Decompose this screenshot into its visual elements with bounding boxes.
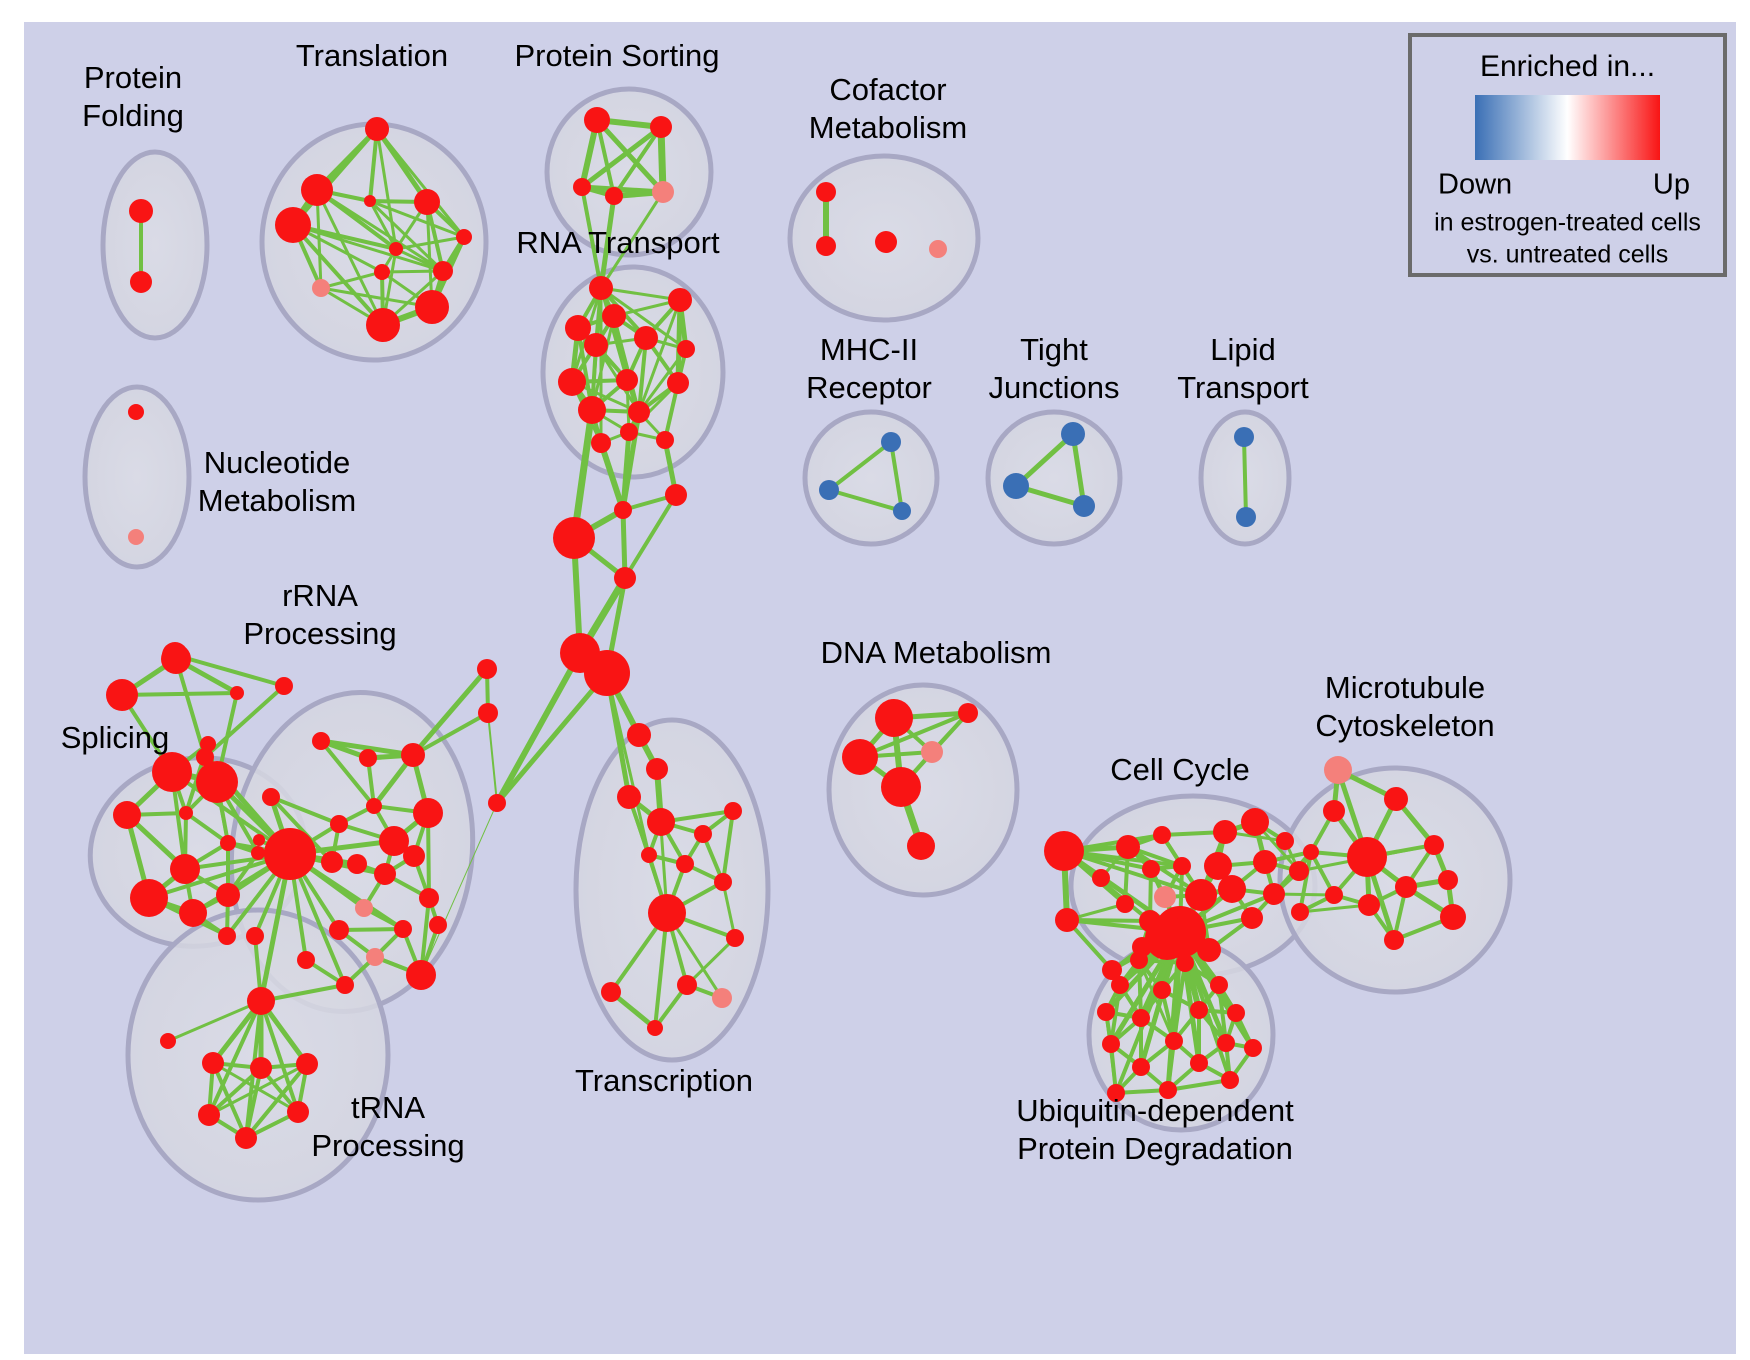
- legend-low-label: Down: [1438, 169, 1512, 201]
- network-node-rrna-processing[interactable]: [275, 677, 293, 695]
- network-node-rna-transport[interactable]: [656, 431, 674, 449]
- network-node-trna-processing[interactable]: [235, 1127, 257, 1149]
- network-node-cell-cycle[interactable]: [1092, 869, 1110, 887]
- network-node-ubiquitin-protein-degradation[interactable]: [1132, 1009, 1150, 1027]
- network-node-transcription[interactable]: [647, 1020, 663, 1036]
- network-node-protein-sorting[interactable]: [584, 107, 610, 133]
- network-node-microtubule-cytoskeleton[interactable]: [1438, 870, 1458, 890]
- network-node-protein-sorting[interactable]: [652, 181, 674, 203]
- network-node-trna-processing[interactable]: [250, 1057, 272, 1079]
- network-node-cell-cycle[interactable]: [1142, 860, 1160, 878]
- network-node-splicing[interactable]: [253, 834, 265, 846]
- network-node-cofactor-metabolism[interactable]: [816, 236, 836, 256]
- network-node-rna-transport[interactable]: [628, 401, 650, 423]
- network-node-splicing[interactable]: [216, 883, 240, 907]
- network-node-ubiquitin-protein-degradation[interactable]: [1221, 1071, 1239, 1089]
- network-node-ubiquitin-protein-degradation[interactable]: [1165, 1032, 1183, 1050]
- network-node-transcription[interactable]: [712, 988, 732, 1008]
- network-node-ubiquitin-protein-degradation[interactable]: [1190, 1001, 1208, 1019]
- network-node-rrna-processing[interactable]: [401, 743, 425, 767]
- network-node-rrna-processing[interactable]: [336, 976, 354, 994]
- network-node-rna-transport[interactable]: [677, 340, 695, 358]
- network-node-protein-folding[interactable]: [129, 199, 153, 223]
- network-node-cofactor-metabolism[interactable]: [875, 231, 897, 253]
- network-node-microtubule-cytoskeleton[interactable]: [1324, 756, 1352, 784]
- network-node-splicing[interactable]: [179, 899, 207, 927]
- network-node-ubiquitin-protein-degradation[interactable]: [1190, 1054, 1208, 1072]
- legend-high-label: Up: [1653, 169, 1690, 201]
- network-node-dna-metabolism[interactable]: [958, 703, 978, 723]
- network-node-cell-cycle[interactable]: [1116, 835, 1140, 859]
- network-node-nucleotide-metabolism[interactable]: [128, 404, 144, 420]
- network-node-transcription[interactable]: [646, 758, 668, 780]
- network-node-rna-transport[interactable]: [620, 423, 638, 441]
- network-node-transcription[interactable]: [584, 650, 630, 696]
- network-node-transcription[interactable]: [627, 723, 651, 747]
- cluster-hull-protein-folding[interactable]: [103, 152, 207, 338]
- network-node-translation[interactable]: [389, 242, 403, 256]
- network-node-ubiquitin-protein-degradation[interactable]: [1176, 954, 1194, 972]
- network-node-microtubule-cytoskeleton[interactable]: [1325, 886, 1343, 904]
- network-node-rrna-processing[interactable]: [477, 659, 497, 679]
- network-node-cell-cycle[interactable]: [1055, 908, 1079, 932]
- network-node-rrna-processing[interactable]: [329, 920, 349, 940]
- network-node-splicing[interactable]: [196, 761, 238, 803]
- cluster-label-translation: Translation: [296, 38, 448, 73]
- network-node-rrna-processing[interactable]: [394, 920, 412, 938]
- network-node-transcription[interactable]: [648, 894, 686, 932]
- cluster-label-splicing: Splicing: [61, 720, 170, 755]
- network-node-cell-cycle[interactable]: [1145, 916, 1189, 960]
- network-node-mhc-ii-receptor[interactable]: [819, 480, 839, 500]
- network-node-rrna-processing[interactable]: [321, 851, 343, 873]
- network-node-rrna-processing[interactable]: [264, 828, 316, 880]
- legend-color-bar: [1475, 95, 1660, 160]
- network-node-rrna-processing[interactable]: [347, 854, 367, 874]
- network-node-tight-junctions[interactable]: [1003, 473, 1029, 499]
- network-node-rna-transport[interactable]: [558, 368, 586, 396]
- network-node-transcription[interactable]: [488, 794, 506, 812]
- network-node-translation[interactable]: [415, 290, 449, 324]
- network-node-protein-folding[interactable]: [130, 271, 152, 293]
- cluster-label-dna-metabolism: DNA Metabolism: [821, 635, 1052, 670]
- network-node-rrna-processing[interactable]: [406, 960, 436, 990]
- legend-subtitle-line2: vs. untreated cells: [1467, 241, 1669, 269]
- legend-panel: Enriched in... Down Up in estrogen-treat…: [1410, 35, 1725, 275]
- network-node-tight-junctions[interactable]: [1061, 422, 1085, 446]
- cluster-label-transcription: Transcription: [575, 1063, 753, 1098]
- network-node-trna-processing[interactable]: [202, 1052, 224, 1074]
- network-node-rrna-processing[interactable]: [478, 703, 498, 723]
- network-node-splicing[interactable]: [179, 806, 193, 820]
- network-node-transcription[interactable]: [694, 825, 712, 843]
- network-node-ubiquitin-protein-degradation[interactable]: [1210, 976, 1228, 994]
- network-node-cell-cycle[interactable]: [1153, 826, 1171, 844]
- network-node-cell-cycle[interactable]: [1263, 883, 1285, 905]
- network-node-rna-transport[interactable]: [589, 276, 613, 300]
- network-node-rrna-processing[interactable]: [413, 798, 443, 828]
- network-node-cell-cycle[interactable]: [1218, 875, 1246, 903]
- network-node-rrna-processing[interactable]: [162, 642, 188, 668]
- network-node-cell-cycle[interactable]: [1185, 879, 1217, 911]
- network-node-translation[interactable]: [433, 261, 453, 281]
- network-node-rrna-processing[interactable]: [330, 815, 348, 833]
- network-node-trna-processing[interactable]: [160, 1033, 176, 1049]
- network-node-dna-metabolism[interactable]: [907, 832, 935, 860]
- network-node-translation[interactable]: [414, 189, 440, 215]
- network-node-rrna-processing[interactable]: [359, 749, 377, 767]
- network-node-cell-cycle[interactable]: [1173, 857, 1191, 875]
- network-node-cell-cycle[interactable]: [1241, 808, 1269, 836]
- network-node-transcription[interactable]: [714, 873, 732, 891]
- network-node-microtubule-cytoskeleton[interactable]: [1395, 876, 1417, 898]
- network-node-rrna-processing[interactable]: [196, 748, 214, 766]
- network-node-rrna-processing[interactable]: [355, 899, 373, 917]
- network-node-rna-transport[interactable]: [634, 326, 658, 350]
- network-node-splicing[interactable]: [106, 679, 138, 711]
- network-node-translation[interactable]: [364, 195, 376, 207]
- network-node-microtubule-cytoskeleton[interactable]: [1347, 837, 1387, 877]
- network-node-cell-cycle[interactable]: [1253, 850, 1277, 874]
- network-node-microtubule-cytoskeleton[interactable]: [1291, 903, 1309, 921]
- network-node-translation[interactable]: [365, 117, 389, 141]
- network-node-cell-cycle[interactable]: [1154, 886, 1176, 908]
- network-node-dna-metabolism[interactable]: [842, 739, 878, 775]
- network-node-transcription[interactable]: [677, 975, 697, 995]
- network-node-splicing[interactable]: [251, 846, 265, 860]
- network-node-microtubule-cytoskeleton[interactable]: [1384, 787, 1408, 811]
- network-node-microtubule-cytoskeleton[interactable]: [1424, 835, 1444, 855]
- network-node-dna-metabolism[interactable]: [881, 767, 921, 807]
- network-node-cofactor-metabolism[interactable]: [816, 182, 836, 202]
- network-node-transcription[interactable]: [676, 855, 694, 873]
- network-node-microtubule-cytoskeleton[interactable]: [1358, 894, 1380, 916]
- network-node-splicing[interactable]: [170, 854, 200, 884]
- network-node-rna-transport[interactable]: [616, 369, 638, 391]
- network-node-splicing[interactable]: [152, 752, 192, 792]
- network-node-lipid-transport[interactable]: [1236, 507, 1256, 527]
- network-node-translation[interactable]: [456, 229, 472, 245]
- network-node-splicing[interactable]: [218, 927, 236, 945]
- network-node-splicing[interactable]: [230, 686, 244, 700]
- network-node-transcription[interactable]: [647, 808, 675, 836]
- network-node-protein-sorting[interactable]: [573, 178, 591, 196]
- network-node-microtubule-cytoskeleton[interactable]: [1323, 800, 1345, 822]
- network-node-trna-processing[interactable]: [287, 1101, 309, 1123]
- network-node-protein-sorting[interactable]: [650, 116, 672, 138]
- network-node-transcription[interactable]: [553, 517, 595, 559]
- network-node-translation[interactable]: [301, 174, 333, 206]
- network-node-ubiquitin-protein-degradation[interactable]: [1244, 1039, 1262, 1057]
- network-node-mhc-ii-receptor[interactable]: [893, 502, 911, 520]
- network-node-ubiquitin-protein-degradation[interactable]: [1153, 981, 1171, 999]
- network-node-microtubule-cytoskeleton[interactable]: [1303, 844, 1319, 860]
- network-node-transcription[interactable]: [614, 567, 636, 589]
- network-node-cell-cycle[interactable]: [1289, 861, 1309, 881]
- legend-subtitle-line1: in estrogen-treated cells: [1434, 209, 1701, 237]
- network-node-rrna-processing[interactable]: [419, 888, 439, 908]
- network-node-transcription[interactable]: [724, 802, 742, 820]
- network-node-rna-transport[interactable]: [584, 333, 608, 357]
- network-node-ubiquitin-protein-degradation[interactable]: [1130, 951, 1148, 969]
- network-node-microtubule-cytoskeleton[interactable]: [1384, 930, 1404, 950]
- network-node-rrna-processing[interactable]: [374, 863, 396, 885]
- network-node-translation[interactable]: [374, 264, 390, 280]
- cluster-label-cell-cycle: Cell Cycle: [1110, 752, 1250, 787]
- network-node-cell-cycle[interactable]: [1116, 895, 1134, 913]
- cluster-label-rna-transport: RNA Transport: [516, 225, 720, 260]
- network-node-translation[interactable]: [312, 279, 330, 297]
- network-node-transcription[interactable]: [665, 484, 687, 506]
- network-node-cell-cycle[interactable]: [1197, 938, 1221, 962]
- network-canvas: ProteinFoldingTranslationProtein Sorting…: [0, 0, 1750, 1360]
- cluster-hull-transcription[interactable]: [576, 720, 768, 1060]
- network-node-tight-junctions[interactable]: [1073, 495, 1095, 517]
- network-node-dna-metabolism[interactable]: [921, 741, 943, 763]
- network-node-cofactor-metabolism[interactable]: [929, 240, 947, 258]
- network-node-cell-cycle[interactable]: [1213, 820, 1237, 844]
- network-node-rrna-processing[interactable]: [246, 927, 264, 945]
- network-node-microtubule-cytoskeleton[interactable]: [1440, 904, 1466, 930]
- network-node-mhc-ii-receptor[interactable]: [881, 432, 901, 452]
- network-node-protein-sorting[interactable]: [605, 187, 623, 205]
- legend-title: Enriched in...: [1480, 50, 1655, 83]
- network-node-ubiquitin-protein-degradation[interactable]: [1132, 1058, 1150, 1076]
- network-node-rrna-processing[interactable]: [247, 987, 275, 1015]
- network-node-rrna-processing[interactable]: [429, 916, 447, 934]
- network-node-rrna-processing[interactable]: [366, 948, 384, 966]
- network-node-rrna-processing[interactable]: [366, 798, 382, 814]
- network-node-rna-transport[interactable]: [591, 433, 611, 453]
- network-edge: [1244, 437, 1246, 517]
- network-node-ubiquitin-protein-degradation[interactable]: [1102, 1035, 1120, 1053]
- network-node-splicing[interactable]: [130, 879, 168, 917]
- network-node-trna-processing[interactable]: [296, 1053, 318, 1075]
- network-node-cell-cycle[interactable]: [1044, 831, 1084, 871]
- network-node-rna-transport[interactable]: [668, 288, 692, 312]
- network-node-transcription[interactable]: [614, 501, 632, 519]
- network-node-rna-transport[interactable]: [602, 304, 626, 328]
- network-node-ubiquitin-protein-degradation[interactable]: [1111, 976, 1129, 994]
- network-node-splicing[interactable]: [113, 801, 141, 829]
- network-node-cell-cycle[interactable]: [1276, 832, 1294, 850]
- network-node-dna-metabolism[interactable]: [875, 699, 913, 737]
- network-node-translation[interactable]: [366, 308, 400, 342]
- cluster-hull-mhc-ii-receptor[interactable]: [805, 412, 937, 544]
- network-node-rna-transport[interactable]: [667, 372, 689, 394]
- network-edge: [122, 693, 237, 695]
- network-node-cell-cycle[interactable]: [1241, 907, 1263, 929]
- network-edge: [1067, 920, 1150, 921]
- network-node-rrna-processing[interactable]: [262, 788, 280, 806]
- network-node-rrna-processing[interactable]: [403, 845, 425, 867]
- network-node-rna-transport[interactable]: [578, 396, 606, 424]
- network-node-transcription[interactable]: [641, 847, 657, 863]
- network-node-splicing[interactable]: [220, 835, 236, 851]
- network-node-transcription[interactable]: [617, 785, 641, 809]
- network-node-translation[interactable]: [275, 207, 311, 243]
- network-node-transcription[interactable]: [601, 982, 621, 1002]
- network-node-transcription[interactable]: [726, 929, 744, 947]
- network-node-ubiquitin-protein-degradation[interactable]: [1217, 1034, 1235, 1052]
- enrichment-map-figure: ProteinFoldingTranslationProtein Sorting…: [0, 0, 1750, 1360]
- network-node-rrna-processing[interactable]: [312, 732, 330, 750]
- network-node-rrna-processing[interactable]: [297, 951, 315, 969]
- network-node-lipid-transport[interactable]: [1234, 427, 1254, 447]
- network-node-trna-processing[interactable]: [198, 1104, 220, 1126]
- network-node-ubiquitin-protein-degradation[interactable]: [1227, 1004, 1245, 1022]
- network-node-ubiquitin-protein-degradation[interactable]: [1097, 1003, 1115, 1021]
- cluster-label-protein-sorting: Protein Sorting: [514, 38, 719, 73]
- network-node-nucleotide-metabolism[interactable]: [128, 529, 144, 545]
